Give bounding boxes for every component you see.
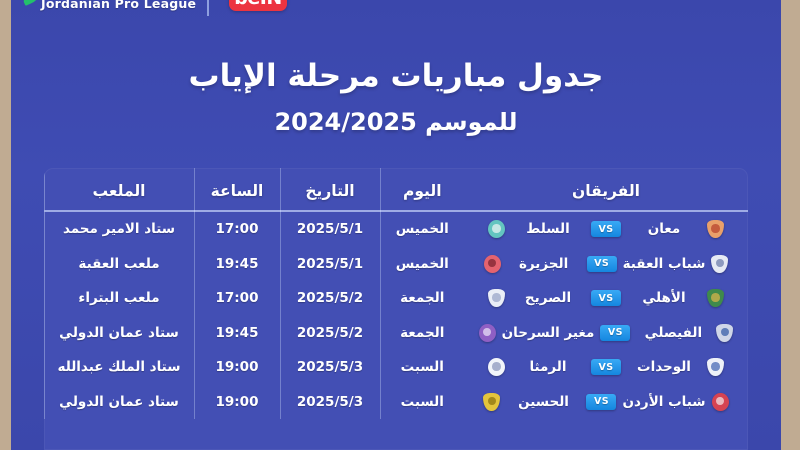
column-header-stadium: الملعب: [44, 168, 194, 211]
schedule-table: الفريقان اليوم التاريخ الساعة الملعب معا…: [44, 168, 748, 419]
cell-teams: معانVSالسلط: [464, 211, 748, 247]
page-title: جدول مباريات مرحلة الإياب: [11, 58, 781, 94]
table-row: شباب العقبةVSالجزيرةالخميس2025/5/119:45م…: [44, 247, 748, 282]
cell-day: الخميس: [380, 211, 464, 247]
broadcaster-badge: beIN: [229, 0, 287, 11]
home-team-name: الوحدات: [627, 359, 701, 375]
vs-badge: VS: [591, 359, 621, 375]
vs-badge: VS: [591, 290, 621, 306]
cell-teams: الفيصليVSمغير السرحان: [464, 316, 748, 351]
away-team-name: السلط: [511, 221, 585, 237]
table-row: الفيصليVSمغير السرحانالجمعة2025/5/219:45…: [44, 316, 748, 351]
shabab-alurdun-crest-icon: [712, 393, 729, 411]
home-team-name: الفيصلي: [636, 325, 710, 341]
vs-badge: VS: [587, 256, 617, 272]
maan-crest-icon: [707, 220, 724, 238]
cell-date: 2025/5/3: [280, 385, 380, 420]
column-header-date: التاريخ: [280, 168, 380, 211]
table-body: معانVSالسلطالخميس2025/5/117:00ستاد الامي…: [44, 211, 748, 419]
cell-time: 19:45: [194, 247, 280, 282]
away-team-name: الحسين: [506, 394, 580, 410]
cell-stadium: ملعب العقبة: [44, 247, 194, 282]
column-header-time: الساعة: [194, 168, 280, 211]
table-row: الوحداتVSالرمثاالسبت2025/5/319:00ستاد ال…: [44, 350, 748, 385]
home-team-name: شباب العقبة: [623, 256, 706, 272]
cell-stadium: ستاد عمان الدولي: [44, 385, 194, 420]
shabab-aqaba-crest-icon: [711, 255, 728, 273]
page-subtitle: للموسم 2024/2025: [11, 108, 781, 136]
table-row: معانVSالسلطالخميس2025/5/117:00ستاد الامي…: [44, 211, 748, 247]
cell-time: 17:00: [194, 211, 280, 247]
cell-time: 19:00: [194, 385, 280, 420]
ahli-crest-icon: [707, 289, 724, 307]
table-header: الفريقان اليوم التاريخ الساعة الملعب: [44, 168, 748, 211]
cell-time: 19:00: [194, 350, 280, 385]
wehdat-crest-icon: [707, 358, 724, 376]
cell-teams: شباب الأردنVSالحسين: [464, 385, 748, 420]
cell-date: 2025/5/1: [280, 247, 380, 282]
column-header-day: اليوم: [380, 168, 464, 211]
table-header-row: الفريقان اليوم التاريخ الساعة الملعب: [44, 168, 748, 211]
poster-header: Jordanian Pro League beIN: [11, 0, 781, 20]
cell-stadium: ستاد الامير محمد: [44, 211, 194, 247]
away-team-name: مغير السرحان: [502, 325, 595, 341]
cell-date: 2025/5/1: [280, 211, 380, 247]
cell-date: 2025/5/2: [280, 281, 380, 316]
cell-day: الخميس: [380, 247, 464, 282]
cell-day: السبت: [380, 385, 464, 420]
vs-badge: VS: [600, 325, 630, 341]
cell-day: الجمعة: [380, 316, 464, 351]
away-team-name: الصريح: [511, 290, 585, 306]
table-row: شباب الأردنVSالحسينالسبت2025/5/319:00ستا…: [44, 385, 748, 420]
faisaly-crest-icon: [716, 324, 733, 342]
vs-badge: VS: [591, 221, 621, 237]
table-row: الأهليVSالصريحالجمعة2025/5/217:00ملعب ال…: [44, 281, 748, 316]
cell-day: الجمعة: [380, 281, 464, 316]
hussein-crest-icon: [483, 393, 500, 411]
mughayyir-alsarhan-crest-icon: [479, 324, 496, 342]
league-name-label: Jordanian Pro League: [41, 0, 196, 11]
salt-crest-icon: [488, 220, 505, 238]
screenshot-root: Jordanian Pro League beIN جدول مباريات م…: [0, 0, 800, 450]
cell-teams: شباب العقبةVSالجزيرة: [464, 247, 748, 282]
broadcaster-badge-label: beIN: [234, 0, 281, 8]
vs-badge: VS: [586, 394, 616, 410]
vertical-divider: [207, 0, 209, 16]
column-header-teams: الفريقان: [464, 168, 748, 211]
schedule-panel: الفريقان اليوم التاريخ الساعة الملعب معا…: [44, 168, 748, 450]
cell-date: 2025/5/2: [280, 316, 380, 351]
jazeera-crest-icon: [484, 255, 501, 273]
cell-time: 17:00: [194, 281, 280, 316]
cell-day: السبت: [380, 350, 464, 385]
cell-time: 19:45: [194, 316, 280, 351]
home-team-name: شباب الأردن: [622, 394, 705, 410]
away-team-name: الجزيرة: [507, 256, 581, 272]
cell-stadium: ستاد عمان الدولي: [44, 316, 194, 351]
home-team-name: الأهلي: [627, 290, 701, 306]
ramtha-crest-icon: [488, 358, 505, 376]
cell-teams: الوحداتVSالرمثا: [464, 350, 748, 385]
away-team-name: الرمثا: [511, 359, 585, 375]
cell-teams: الأهليVSالصريح: [464, 281, 748, 316]
home-team-name: معان: [627, 221, 701, 237]
poster-canvas: Jordanian Pro League beIN جدول مباريات م…: [11, 0, 781, 450]
cell-date: 2025/5/3: [280, 350, 380, 385]
cell-stadium: ستاد الملك عبدالله: [44, 350, 194, 385]
cell-stadium: ملعب البتراء: [44, 281, 194, 316]
sareeh-crest-icon: [488, 289, 505, 307]
